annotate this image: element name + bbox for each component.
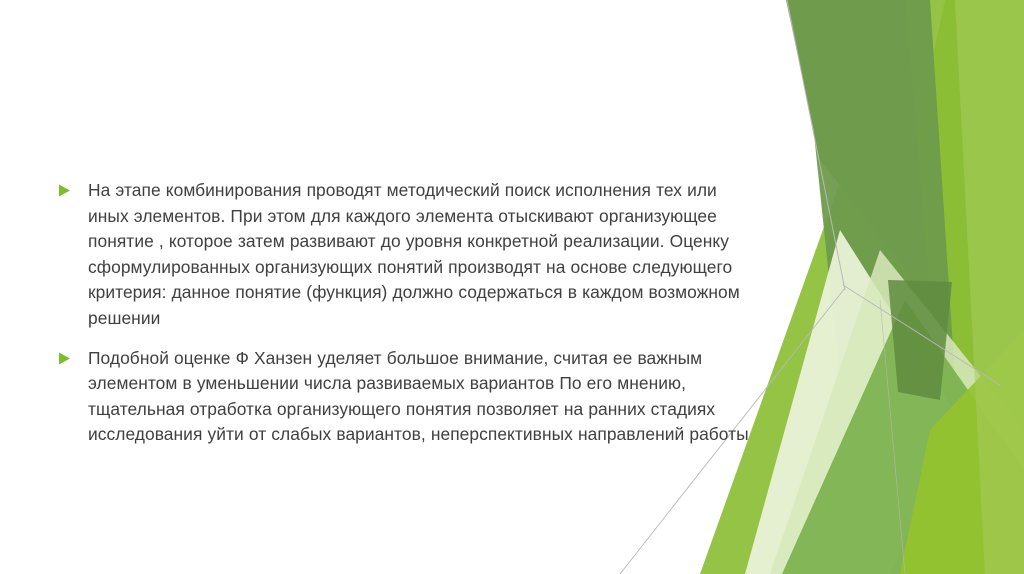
decor-shape-dark-triangle-top: [786, 0, 930, 300]
decor-shape-dark-wedge: [800, 0, 968, 574]
decor-shape-mid-green-band: [782, 300, 1024, 574]
presentation-slide: На этапе комбинирования проводят методич…: [0, 0, 1024, 574]
decor-hairline-vertical: [880, 300, 905, 574]
bullet-paragraph-2: Подобной оценке Ф Ханзен уделяет большое…: [88, 346, 758, 448]
bullet-paragraph-1: На этапе комбинирования проводят методич…: [88, 178, 758, 332]
decor-shape-pale-fan: [770, 250, 1024, 574]
decor-shape-darkest-triangle: [888, 280, 952, 400]
decor-shape-bright-bottom-right: [900, 330, 1024, 574]
decor-hairline-upper: [787, 0, 845, 290]
list-item: Подобной оценке Ф Ханзен уделяет большое…: [58, 346, 758, 448]
slide-body-content: На этапе комбинирования проводят методич…: [58, 178, 758, 448]
decor-shape-light-overlay-right: [955, 0, 1024, 574]
decor-shape-pale-wedge: [745, 230, 960, 574]
decor-shape-bright-right: [820, 0, 1024, 574]
list-item: На этапе комбинирования проводят методич…: [58, 178, 758, 332]
decor-hairline-mid: [843, 285, 1000, 385]
triangle-right-icon: [58, 178, 88, 197]
triangle-right-icon: [58, 346, 88, 365]
